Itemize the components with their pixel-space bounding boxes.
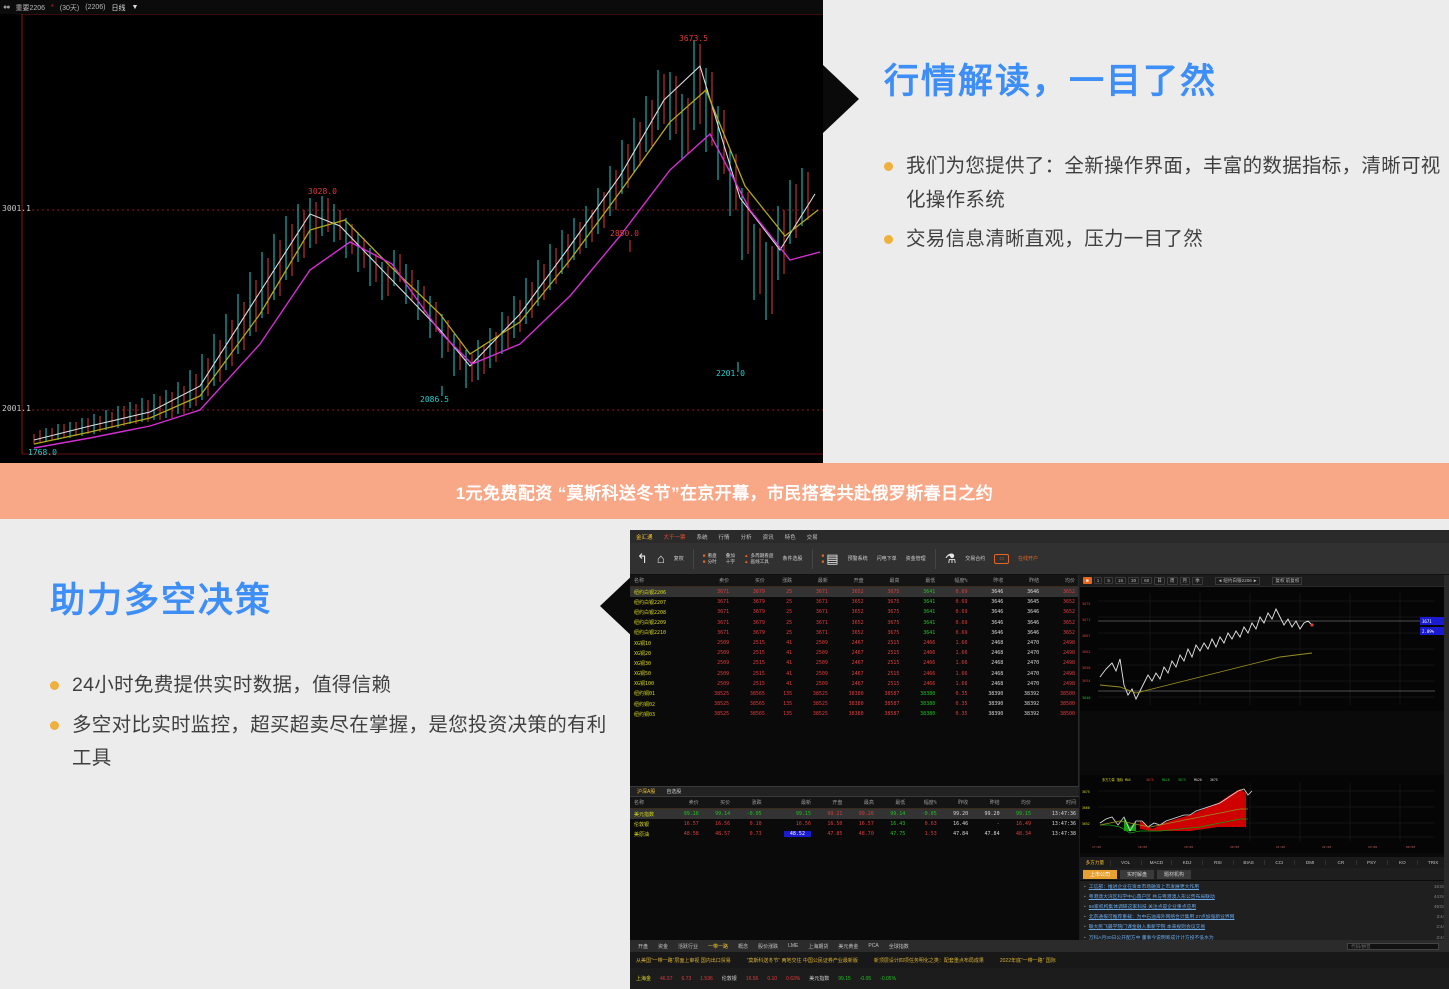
lcol-time[interactable]: 时间	[1034, 797, 1079, 809]
lower-table-body: 美元指数 99.16 99.14 -0.05 99.15 99.21 99.26…	[630, 809, 1079, 840]
lower-table-header-row: 名称 卖价 买价 涨跌 最新 开盘 最高 最低 幅度% 昨收 昨结 均价 时间	[630, 797, 1079, 809]
price-annotation-low-mid: 2086.5	[420, 395, 449, 404]
col-avg[interactable]: 均价	[1042, 575, 1078, 587]
news-title[interactable]: 粤港澳大湾区科学中心落户区 共与粤港澳人形公告布局联动	[1089, 895, 1215, 900]
vertical-scrollbar[interactable]	[1444, 575, 1449, 940]
menu-item-analysis[interactable]: 分析	[741, 533, 752, 541]
svg-text:3667: 3667	[1082, 634, 1090, 638]
status-usdx-price: 99.15	[838, 976, 851, 982]
ticker-item-1: 从美国“一带一路”层面上审视 国内出口贸易	[636, 957, 731, 964]
ind-tab-vol[interactable]: VOL	[1111, 860, 1142, 865]
menu-item-news[interactable]: 资讯	[763, 533, 774, 541]
lower-quote-table[interactable]: 名称 卖价 买价 涨跌 最新 开盘 最高 最低 幅度% 昨收 昨结 均价 时间	[630, 797, 1079, 840]
quick-order-button[interactable]: 闪电下单	[877, 555, 897, 562]
cell: 1.66	[938, 679, 970, 689]
list-item: 24小时免费提供实时数据，值得信赖	[50, 669, 610, 703]
period-button-quarter[interactable]: 季	[1192, 577, 1203, 585]
cell: 2470	[1006, 648, 1042, 658]
menu-item-feature[interactable]: 特色	[785, 533, 796, 541]
cell: 2509	[696, 679, 732, 689]
quote-table-body: 纽约白银2206 3671 3679 25 3671 3652 3675 364…	[630, 587, 1078, 720]
cell: 38380	[902, 689, 938, 699]
table-row[interactable]: 伦敦银 16.57 16.56 0.10 16.56 16.50 16.57 1…	[630, 819, 1079, 829]
news-tab-realtime[interactable]: 实时解盘	[1120, 870, 1154, 879]
table-row[interactable]: 纽约铜02 38525 38565 135 38525 38380 38587 …	[630, 699, 1078, 709]
current-change-tag: 2.09%	[1422, 629, 1435, 634]
col-change[interactable]: 涨跌	[768, 575, 795, 587]
cell: 2498	[1042, 658, 1078, 668]
cell: 2498	[1042, 638, 1078, 648]
price-annotation-high-mid: 2850.0	[610, 229, 639, 238]
flask-icon[interactable]: ⚗	[945, 552, 957, 565]
sub-tab-ashare[interactable]: 沪深A股	[634, 788, 658, 795]
chart-star-icon: *	[51, 4, 54, 11]
cell: 3679	[732, 597, 768, 607]
period-button-60[interactable]: 60	[1141, 577, 1152, 584]
status-usdx-change: -0.05	[860, 976, 871, 982]
news-title[interactable]: 联大民飞最学院门课金融入事新学院 本来规则会议交易	[1089, 925, 1205, 930]
table-row[interactable]: XG铜100 2509 2515 41 2509 2467 2515 2466 …	[630, 679, 1078, 689]
lcol-prevsettle[interactable]: 昨结	[971, 797, 1002, 809]
cell: 2467	[831, 648, 867, 658]
ind-tab-bias[interactable]: BIAS	[1234, 860, 1265, 865]
row-name: 纽约白银2208	[630, 607, 696, 617]
indicator-svg: 多方力量 指标 MA5 4675 MA10 3673 MA20 3675 367…	[1080, 775, 1449, 853]
cell: 3652	[1042, 607, 1078, 617]
list-item[interactable]: •58家机构集体调研这家科技 关注点是企业重点应用 49:04	[1080, 901, 1449, 911]
app-toolbar[interactable]: ↰ ⌂ 复权 ■■ 看盘 分时 叠加 十字 ▲▲ 多周期看盘 画线工具 条件选股	[630, 543, 1449, 575]
table-row[interactable]: 美元指数 99.16 99.14 -0.05 99.15 99.21 99.26…	[630, 809, 1079, 820]
cell: 3646	[971, 597, 1007, 607]
indicator-tab-bar[interactable]: 多方力量 VOL MACD KDJ RSI BIAS CCI DMI CR PS…	[1080, 857, 1449, 868]
cell: 2509	[696, 669, 732, 679]
lcol-low[interactable]: 最低	[877, 797, 908, 809]
cell: 2509	[795, 669, 831, 679]
cell: 3671	[795, 597, 831, 607]
lcol-pct[interactable]: 幅度%	[908, 797, 939, 809]
cell: 16.49	[1003, 819, 1034, 829]
col-low[interactable]: 最低	[902, 575, 938, 587]
cell: 41	[768, 638, 795, 648]
cell: 2470	[1006, 638, 1042, 648]
cell: 0.35	[938, 709, 970, 719]
cell: 48.58	[670, 829, 701, 839]
bottom-tab-pricechg[interactable]: 股价涨跌	[758, 943, 778, 950]
cell: 3641	[902, 587, 938, 598]
open-account-button[interactable]: 在线开户	[1018, 555, 1038, 562]
table-row[interactable]: 美原油 48.58 48.57 0.73 48.52 47.85 48.70 4…	[630, 829, 1079, 839]
status-silver-label: 伦敦银	[722, 975, 737, 982]
cell: 16.56	[702, 819, 733, 829]
period-button-5[interactable]: 5	[1104, 577, 1113, 584]
cell: 3671	[696, 607, 732, 617]
callout-arrow-top	[823, 65, 859, 133]
cell: 3671	[696, 597, 732, 607]
cell: 38392	[1006, 699, 1042, 709]
table-row[interactable]: 纽约白银2209 3671 3679 25 3671 3652 3675 364…	[630, 618, 1078, 628]
ind-tab-cr[interactable]: CR	[1326, 860, 1357, 865]
bullet-dot-icon	[884, 235, 893, 244]
fund-manage-button[interactable]: 资金管理	[906, 555, 926, 562]
ind-tab-cci[interactable]: CCI	[1265, 860, 1296, 865]
cell: 3671	[795, 587, 831, 598]
ind-tab-dmi[interactable]: DMI	[1295, 860, 1326, 865]
price-annotation-high-left: 3028.0	[308, 187, 337, 196]
open-account-label: 在线开户	[1018, 555, 1038, 562]
cell: 25	[768, 607, 795, 617]
ticker-item-4: 2022年底“一带一路” 国际	[1000, 957, 1056, 964]
lcol-bid[interactable]: 买价	[702, 797, 733, 809]
price-annotation-low-left: 1768.0	[28, 448, 57, 457]
period-button-1[interactable]: 1	[1094, 577, 1103, 584]
status-gold-price: 46.57	[660, 976, 673, 982]
cell: 13:47:36	[1034, 809, 1079, 820]
lcol-high[interactable]: 最高	[845, 797, 876, 809]
cell: 3652	[1042, 628, 1078, 638]
cell: 38380	[831, 699, 867, 709]
cell: 2509	[795, 658, 831, 668]
stock-screener-button[interactable]: 条件选股	[783, 555, 803, 562]
bullet-icon: •	[1084, 895, 1086, 900]
bullet-icon: •	[1084, 885, 1086, 890]
status-gold-pct: 1.536	[700, 976, 713, 982]
bar-chart-icon[interactable]: ■■ ▤	[822, 552, 839, 565]
cell: 1.53	[908, 829, 939, 839]
col-open[interactable]: 开盘	[831, 575, 867, 587]
cell: 3646	[1006, 628, 1042, 638]
cell: 48.57	[702, 829, 733, 839]
cell: 3675	[867, 628, 903, 638]
col-ask[interactable]: 卖价	[696, 575, 732, 587]
cell: 99.20	[971, 809, 1002, 820]
cell: -0.05	[908, 809, 939, 820]
cell: 0.69	[938, 618, 970, 628]
svg-text:23:00: 23:00	[1368, 845, 1377, 849]
menu-item-promo[interactable]: 大干一票	[664, 533, 686, 541]
table-row[interactable]: 纽约白银2207 3671 3679 25 3671 3652 3675 364…	[630, 597, 1078, 607]
chart-plot-area[interactable]: 3001.1 2001.1 3673.5 3028.0 2850.0 2086.…	[0, 14, 823, 463]
cell: 3641	[902, 618, 938, 628]
table-row[interactable]: XG铜50 2509 2515 41 2509 2467 2515 2466 1…	[630, 669, 1078, 679]
bottom-tab-fund[interactable]: 资金	[658, 943, 668, 950]
cell: 3671	[795, 628, 831, 638]
news-ticker[interactable]: 从美国“一带一路”层面上审视 国内出口贸易 “莫斯科送冬节” 两地交往 中国公民…	[630, 952, 1449, 968]
bottom-bullet-2: 多空对比实时监控，超买超卖尽在掌握，是您投资决策的有利工具	[72, 709, 610, 776]
status-silver-price: 16.56	[746, 976, 759, 982]
cell: 38500	[1042, 709, 1078, 719]
cell: 0.35	[938, 689, 970, 699]
price-annotation-high-peak: 3673.5	[679, 34, 708, 43]
chart-market-label: (30天)	[60, 3, 79, 13]
news-title[interactable]: 北京通报可推荐重载：为中石油海外网络合计集用 27点加强新业界网	[1089, 915, 1235, 920]
quote-sub-tabs[interactable]: 沪深A股 自选股	[630, 786, 1079, 797]
cell: 2467	[831, 638, 867, 648]
cell: 2470	[1006, 669, 1042, 679]
news-tab-listed[interactable]: 上市公司	[1083, 870, 1117, 879]
lcol-prevclose[interactable]: 昨收	[940, 797, 971, 809]
period-button-active[interactable]: ■	[1083, 577, 1092, 584]
row-name: 美元指数	[630, 809, 670, 820]
bottom-bullet-list: 24小时免费提供实时数据，值得信赖 多空对比实时监控，超买超卖尽在掌握，是您投资…	[50, 669, 610, 776]
chart-period-selector[interactable]: 日线	[111, 3, 125, 13]
news-title[interactable]: 58家机构集体调研这家科技 关注点是企业重点应用	[1089, 905, 1196, 910]
cell: 38380	[902, 709, 938, 719]
svg-text:21:00: 21:00	[1276, 845, 1285, 849]
ind-tab-power[interactable]: 多方力量	[1080, 860, 1111, 866]
cell: 3646	[971, 618, 1007, 628]
cell: 38525	[795, 689, 831, 699]
cell: 2467	[831, 679, 867, 689]
cell: 2509	[696, 658, 732, 668]
cell: 3652	[831, 618, 867, 628]
status-gold-change: 6.73	[682, 976, 692, 982]
lcol-last[interactable]: 最新	[765, 797, 814, 809]
restore-right-button[interactable]: 复权	[674, 555, 684, 562]
cell: 38390	[971, 689, 1007, 699]
cell: 38565	[732, 699, 768, 709]
row-name: 伦敦银	[630, 819, 670, 829]
cell: 2468	[971, 648, 1007, 658]
col-name[interactable]: 名称	[630, 575, 696, 587]
lower-quote-panel[interactable]: 名称 卖价 买价 涨跌 最新 开盘 最高 最低 幅度% 昨收 昨结 均价 时间	[630, 797, 1079, 940]
col-bid[interactable]: 买价	[732, 575, 768, 587]
period-button-day[interactable]: 日	[1154, 577, 1165, 585]
list-item[interactable]: •北京通报可推荐重载：为中石油海外网络合计集用 27点加强新业界网 3:44	[1080, 912, 1449, 922]
bullet-icon: •	[1084, 905, 1086, 910]
svg-text:3646: 3646	[1082, 696, 1090, 700]
lcol-name[interactable]: 名称	[630, 797, 670, 809]
minute-line-chart[interactable]: 36753671 36673662 36583654 3646 3671 2.0…	[1080, 587, 1449, 711]
video-icon[interactable]: ▭	[994, 554, 1009, 564]
cell: 99.15	[1003, 809, 1034, 820]
cell: 99.16	[670, 809, 701, 820]
table-row[interactable]: XG铜10 2509 2515 41 2509 2467 2515 2466 1…	[630, 638, 1078, 648]
cell: 2509	[795, 679, 831, 689]
cell: 2509	[795, 638, 831, 648]
svg-text:3654: 3654	[1082, 679, 1090, 683]
bottom-tab-active[interactable]: 活跃行业	[678, 943, 698, 950]
list-item[interactable]: •工信部：推进企业在资本市场融资上市发展更大作用 16:04	[1080, 881, 1449, 891]
cell: 38392	[1006, 689, 1042, 699]
cell: 1.66	[938, 638, 970, 648]
news-tab-theme[interactable]: 题材机构	[1157, 870, 1191, 879]
news-tab-bar[interactable]: 上市公司 实时解盘 题材机构	[1080, 868, 1449, 880]
col-prevclose[interactable]: 昨收	[971, 575, 1007, 587]
period-button-30[interactable]: 30	[1128, 577, 1139, 584]
table-row[interactable]: 纽约铜01 38525 38565 135 38525 38380 38587 …	[630, 689, 1078, 699]
multi-period-button[interactable]: ▲▲ 多周期看盘 画线工具	[744, 553, 774, 564]
bottom-tab-usdgold[interactable]: 美元黄金	[838, 943, 858, 950]
cell: 3645	[1006, 597, 1042, 607]
sub-tab-watchlist[interactable]: 自选股	[663, 788, 684, 795]
status-gold-label: 上海金	[636, 975, 651, 982]
cell: 2466	[902, 669, 938, 679]
app-menubar[interactable]: 金汇通 大干一票 系统 行情 分析 资讯 特色 交易	[630, 530, 1449, 543]
bottom-tab-pca[interactable]: PCA	[868, 943, 878, 949]
table-row[interactable]: XG铜30 2509 2515 41 2509 2467 2515 2466 1…	[630, 658, 1078, 668]
svg-text:MA20: MA20	[1194, 778, 1202, 782]
ind-tab-rsi[interactable]: RSI	[1203, 860, 1234, 865]
cell: 38525	[795, 709, 831, 719]
bullet-dot-icon	[50, 681, 59, 690]
quick-order-label: 闪电下单	[877, 555, 897, 562]
table-row[interactable]: 纽约白银2210 3671 3679 25 3671 3652 3675 364…	[630, 628, 1078, 638]
cell: 1.66	[938, 669, 970, 679]
top-headline: 行情解读，一目了然	[884, 62, 1444, 102]
svg-text:3662: 3662	[1082, 650, 1090, 654]
bottom-tab-concept[interactable]: 概念	[738, 943, 748, 950]
news-title[interactable]: 工信部：推进企业在资本市场融资上市发展更大作用	[1089, 885, 1199, 890]
trading-app-screenshot[interactable]: 金汇通 大干一票 系统 行情 分析 资讯 特色 交易 ↰ ⌂ 复权 ■■ 看盘 …	[630, 530, 1449, 989]
bottom-tab-bar[interactable]: 开盘 资金 活跃行业 一带一路 概念 股价涨跌 LME 上海期货 美元黄金 PC…	[630, 940, 1449, 952]
cell: 38587	[867, 699, 903, 709]
menu-item-quotes[interactable]: 行情	[719, 533, 730, 541]
col-last[interactable]: 最新	[795, 575, 831, 587]
cell: 3671	[696, 628, 732, 638]
toolbar-divider	[693, 549, 694, 569]
restore-right-label: 复权	[674, 555, 684, 562]
cell: 0.69	[938, 607, 970, 617]
cell: 25	[768, 587, 795, 598]
cell: 2468	[971, 638, 1007, 648]
table-row[interactable]: 纽约白银2206 3671 3679 25 3671 3652 3675 364…	[630, 587, 1078, 598]
cell: 3646	[1006, 607, 1042, 617]
promo-banner[interactable]: 1元免费配资 “莫斯科送冬节”在京开幕，市民搭客共赴俄罗斯春日之约	[0, 463, 1449, 519]
cell: 0.63	[908, 819, 939, 829]
col-high[interactable]: 最高	[867, 575, 903, 587]
cell: 2515	[867, 679, 903, 689]
adjust-label: 复权	[1275, 578, 1284, 584]
lcol-open[interactable]: 开盘	[814, 797, 845, 809]
cell: 3675	[867, 597, 903, 607]
cell: 38380	[831, 689, 867, 699]
adjust-selector[interactable]: 复权 前复权	[1272, 577, 1302, 585]
cell: -	[971, 819, 1002, 829]
row-name: 纽约铜03	[630, 709, 696, 719]
quote-table[interactable]: 名称 卖价 买价 涨跌 最新 开盘 最高 最低 幅度% 昨收 昨结 均价	[630, 575, 1078, 719]
period-button-month[interactable]: 月	[1180, 577, 1191, 585]
ind-tab-macd[interactable]: MACD	[1142, 860, 1173, 865]
ind-tab-ko[interactable]: KO	[1388, 860, 1419, 865]
bottom-tab-shfe[interactable]: 上海期货	[808, 943, 828, 950]
cell: 2466	[902, 638, 938, 648]
lcol-avg[interactable]: 均价	[1003, 797, 1034, 809]
chart-right-panel[interactable]: ■ 1 5 15 30 60 日 周 月 季 ◄ 纽约白银2206 ► 复权 前…	[1080, 575, 1449, 940]
col-prevsettle[interactable]: 昨结	[1006, 575, 1042, 587]
minute-line-svg: 36753671 36673662 36583654 3646 3671 2.0…	[1080, 587, 1449, 711]
svg-text:00:00: 00:00	[1406, 845, 1415, 849]
ind-tab-psy[interactable]: PSY	[1357, 860, 1388, 865]
list-item[interactable]: •粤港澳大湾区科学中心落户区 共与粤港澳人形公告布局联动 44:04	[1080, 891, 1449, 901]
symbol-nav[interactable]: ◄ 纽约白银2206 ►	[1215, 577, 1261, 585]
chart-code-label: 重要2206	[15, 3, 45, 13]
menu-item-brand[interactable]: 金汇通	[636, 533, 653, 541]
top-bullet-1: 我们为您提供了：全新操作界面，丰富的数据指标，清晰可视化操作系统	[906, 150, 1444, 217]
cell: 2498	[1042, 648, 1078, 658]
toolbar-divider	[812, 549, 813, 569]
table-row[interactable]: 纽约白银2208 3671 3679 25 3671 3652 3675 364…	[630, 607, 1078, 617]
cell: 3641	[902, 607, 938, 617]
alert-system-button[interactable]: 预警系统	[848, 555, 868, 562]
cell: 3652	[1042, 587, 1078, 598]
quote-view-button[interactable]: ■■ 看盘 分时	[703, 553, 717, 564]
period-button-week[interactable]: 周	[1167, 577, 1178, 585]
next-symbol-icon[interactable]: ►	[1253, 578, 1258, 583]
indicator-legend-text: 多方力量 指标 MA5	[1102, 777, 1131, 782]
chart-period-toolbar[interactable]: ■ 1 5 15 30 60 日 周 月 季 ◄ 纽约白银2206 ► 复权 前…	[1080, 575, 1449, 587]
status-usdx-label: 美元指数	[809, 975, 829, 982]
cell: 38390	[971, 709, 1007, 719]
cell: 3671	[696, 587, 732, 598]
table-row[interactable]: 纽约铜03 38525 38565 135 38525 38380 38587 …	[630, 709, 1078, 719]
cell: -0.05	[733, 809, 764, 820]
cell: 2466	[902, 658, 938, 668]
indicator-chart[interactable]: 多方力量 指标 MA5 4675 MA10 3673 MA20 3675 367…	[1080, 775, 1449, 853]
bottom-tab-lme[interactable]: LME	[788, 943, 798, 949]
status-silver-pct: 0.63%	[786, 976, 800, 982]
top-section: ●● 重要2206 * (30天) (2206) 日线 ▼ MA均值(5,10,…	[0, 0, 1449, 463]
lcol-change[interactable]: 涨跌	[733, 797, 764, 809]
cell: 38380	[902, 699, 938, 709]
quote-table-header-row: 名称 卖价 买价 涨跌 最新 开盘 最高 最低 幅度% 昨收 昨结 均价	[630, 575, 1078, 587]
list-item[interactable]: •联大民飞最学院门课金融入事新学院 本来规则会议交易 2:44	[1080, 922, 1449, 932]
bottom-tab-global[interactable]: 全球指数	[889, 943, 909, 950]
cell: 48.70	[845, 829, 876, 839]
cell: 99.21	[814, 809, 845, 820]
cell: 3679	[732, 587, 768, 598]
undo-icon[interactable]: ↰	[637, 552, 648, 565]
ind-tab-kdj[interactable]: KDJ	[1172, 860, 1203, 865]
cell: 2498	[1042, 669, 1078, 679]
kline-overlay-button[interactable]: 叠加 十字	[726, 553, 735, 564]
cell: 38525	[696, 709, 732, 719]
prev-symbol-icon[interactable]: ◄	[1218, 578, 1223, 583]
period-button-15[interactable]: 15	[1115, 577, 1126, 584]
cell: 3652	[831, 607, 867, 617]
adjust-value[interactable]: 前复权	[1286, 578, 1300, 584]
row-name: XG铜10	[630, 638, 696, 648]
cell: 2467	[831, 669, 867, 679]
cell: 2515	[867, 638, 903, 648]
cell: 38525	[696, 689, 732, 699]
cell: 16.57	[670, 819, 701, 829]
table-row[interactable]: XG铜20 2509 2515 41 2509 2467 2515 2466 1…	[630, 648, 1078, 658]
stock-screener-label: 条件选股	[783, 555, 803, 562]
lcol-ask[interactable]: 卖价	[670, 797, 701, 809]
cell: 3679	[732, 618, 768, 628]
home-icon[interactable]: ⌂	[657, 552, 665, 565]
bullet-dot-icon	[884, 162, 893, 171]
bullet-icon: •	[1084, 915, 1086, 920]
contract-trade-button[interactable]: 交易合约	[965, 555, 985, 562]
cell: 3675	[867, 607, 903, 617]
list-item: 我们为您提供了：全新操作界面，丰富的数据指标，清晰可视化操作系统	[884, 150, 1444, 217]
cell: 2466	[902, 648, 938, 658]
bottom-headline: 助力多空决策	[50, 581, 610, 621]
cell: 3652	[1042, 597, 1078, 607]
bottom-tab-belt[interactable]: 一带一路	[708, 943, 728, 950]
col-pct[interactable]: 幅度%	[938, 575, 970, 587]
menu-item-system[interactable]: 系统	[697, 533, 708, 541]
cell: 135	[768, 699, 795, 709]
cell: 3641	[902, 628, 938, 638]
chevron-down-icon[interactable]: ▼	[131, 4, 138, 11]
row-name: 纽约铜01	[630, 689, 696, 699]
menu-item-trade[interactable]: 交易	[807, 533, 818, 541]
bottom-tab-open[interactable]: 开盘	[638, 943, 648, 950]
search-input[interactable]	[1347, 943, 1439, 950]
alert-system-label: 预警系统	[848, 555, 868, 562]
